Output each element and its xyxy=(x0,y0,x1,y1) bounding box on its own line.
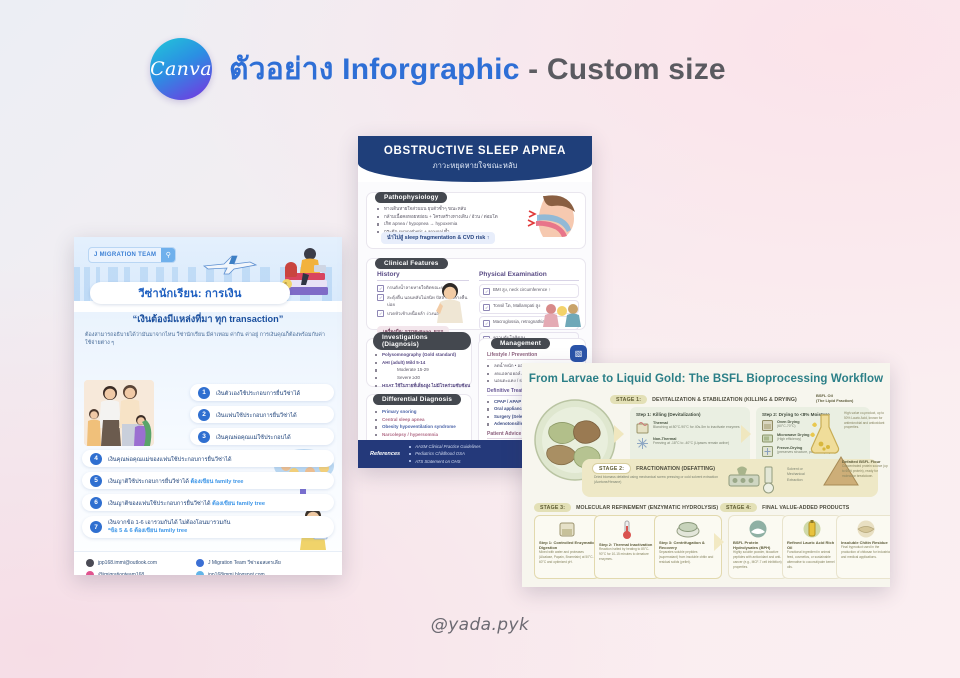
exam-label: BMI สูง, neck circumference ↑ xyxy=(493,287,551,294)
bsfl-stage2-label: Solvent or Mechanical Extraction xyxy=(787,467,821,483)
migration-brand-label: J MIGRATION TEAM xyxy=(94,252,156,258)
management-group-title: Lifestyle / Prevention xyxy=(487,352,579,360)
osa-clinical-heading: Clinical Features xyxy=(375,258,448,269)
check-icon: ✓ xyxy=(377,285,384,292)
exam-label: Tonsil โต, Mallampati สูง xyxy=(493,303,540,310)
check-icon: ✓ xyxy=(377,310,384,317)
step-text: Reaction halted by heating to 85°C-90°C … xyxy=(599,547,655,561)
list-item: Moderate 15-29 xyxy=(375,366,471,374)
search-icon: ⚲ xyxy=(161,248,175,262)
bsfl-title: From Larvae to Liquid Gold: The BSFL Bio… xyxy=(522,363,890,385)
list-item-accent: ต้องเขียน family tree xyxy=(212,501,265,507)
bsfl-stage3-header: STAGE 3: MOLECULAR REFINEMENT (ENZYMATIC… xyxy=(534,503,718,512)
list-item-text: เงินจากข้อ 1-6 เอารวมกันได้ ไม่ต้องโอนมา… xyxy=(108,519,230,527)
list-item[interactable]: 6 เงินญาติของแฟนใช้ประกอบการยื่นวีซ่าได้… xyxy=(82,494,334,511)
list-item-number: 7 xyxy=(90,521,102,533)
list-item-accent: ต้องเขียน family tree xyxy=(190,479,243,485)
bsfl-step1-txt: Blanching at 80°C-90°C for 40s-5m to ina… xyxy=(653,425,740,430)
contact-instagram[interactable]: @jmigrationteam168 xyxy=(86,571,144,575)
flask-icon xyxy=(808,413,842,455)
bsfl-stage3-step2: Step 2: Thermal Inactivation Reaction ha… xyxy=(594,515,660,579)
product-text: Highly soluble powder, bioactive peptide… xyxy=(733,550,783,569)
check-icon: ✓ xyxy=(483,288,490,295)
migration-contact-footer: jpp168.immi@outlook.com @jmigrationteam1… xyxy=(74,551,342,575)
list-item: Polysomnography (Gold standard) xyxy=(375,351,471,359)
exam-label: Macroglossia, retrognathia xyxy=(493,319,545,326)
bsfl-stage2-name: FRACTIONATION (DEFATTING) xyxy=(636,466,715,472)
screw-press-illustration xyxy=(727,463,785,495)
page-title-dash: - xyxy=(528,53,538,86)
list-item: ทางเดินหายใจส่วนบน ยุบตัวซ้ำๆ ขณะหลับ xyxy=(377,205,527,213)
bsfl-oil-text: High-value co-product, up to 50% Lauric … xyxy=(844,411,888,430)
protein-powder-icon xyxy=(747,520,769,538)
bsfl-step1-box: Step 1: Killing (Devitalization) Thermal… xyxy=(630,407,750,467)
list-item[interactable]: 1 เงินตัวเองใช้ประกอบการยื่นวีซ่าได้ xyxy=(190,384,334,401)
list-item-number: 2 xyxy=(198,409,210,421)
list-item: AASM Clinical Practice Guidelines xyxy=(409,443,480,450)
osa-title-th: ภาวะหยุดหายใจขณะหลับ xyxy=(358,160,592,172)
osa-investigations-heading: Investigations (Diagnosis) xyxy=(373,332,471,350)
infographic-card-bsfl[interactable]: From Larvae to Liquid Gold: The BSFL Bio… xyxy=(522,363,890,587)
oil-bottle-icon xyxy=(801,520,823,538)
page-title-custom: Custom size xyxy=(547,53,726,86)
airway-anatomy-illustration xyxy=(527,195,581,239)
doctor-patient-illustration xyxy=(539,301,583,327)
osa-history-title: History xyxy=(377,271,469,281)
bsfl-stage4-name: FINAL VALUE-ADDED PRODUCTS xyxy=(762,505,849,511)
contact-blog[interactable]: jpp168immi.blogspot.com xyxy=(196,571,265,575)
contact-blog-label: jpp168immi.blogspot.com xyxy=(208,572,265,575)
bsfl-oil-product: BSFL Oil (The Lipid Fraction) xyxy=(792,393,887,403)
bsfl-stage3-step3: Step 3: Centrifugation & Recovery Separa… xyxy=(654,515,722,579)
list-item: Narcolepsy / hypersomnia xyxy=(375,431,471,439)
instagram-icon xyxy=(86,571,94,575)
migration-title: วีซ่านักเรียน: การเงิน xyxy=(138,284,241,302)
list-item-label: เงินตัวเองใช้ประกอบการยื่นวีซ่าได้ xyxy=(216,388,300,398)
bsfl-stage1-header: STAGE 1: DEVITALIZATION & STABILIZATION … xyxy=(610,395,797,404)
facebook-icon xyxy=(196,559,204,567)
contact-facebook-label: J Migration Team วีซ่าออสเตรเลีย xyxy=(208,559,281,567)
check-icon: ✓ xyxy=(483,320,490,327)
page-title-thai: ตัวอย่าง xyxy=(229,53,334,86)
list-item-text: เงินญาติของแฟนใช้ประกอบการยื่นวีซ่าได้ xyxy=(108,501,212,507)
osa-section-clinical: Clinical Features History ✓กรนดังน้ำลายห… xyxy=(366,258,586,330)
watermark: @yada.pyk xyxy=(0,615,960,635)
migration-card-body: “เงินต้องมีแหล่งที่มา ทุก transaction” ต… xyxy=(74,312,342,575)
list-item: AHI (adult) Mild 5-14 xyxy=(375,359,471,367)
list-item-label: เงินญาติใช้ประกอบการยื่นวีซ่าได้ ต้องเขี… xyxy=(108,476,243,486)
migration-subtitle: ต้องสามารถอธิบายได้ว่ามันมาจากไหน วีซ่าน… xyxy=(85,331,331,347)
step-text: Mixed with water and proteases (Alcalase… xyxy=(539,550,595,564)
osa-management-heading: Management xyxy=(491,338,550,349)
bsfl-product-bph: BSFL Protein Hydrolysates (BPH) Highly s… xyxy=(728,515,788,579)
step-title: Step 1: Controlled Enzymatic Digestion xyxy=(539,540,595,550)
list-item[interactable]: 4 เงินคุณพ่อคุณแม่ของแฟนใช้ประกอบการยื่น… xyxy=(82,450,334,467)
canva-logo-text: Canva xyxy=(150,58,212,80)
bsfl-oil-subtitle: (The Lipid Fraction) xyxy=(816,398,887,403)
page-title-en: Inforgraphic xyxy=(342,53,519,86)
list-item: กล้ามเนื้อคอหอยหย่อน + โครงสร้างทางเดิน … xyxy=(377,213,527,221)
osa-pe-title: Physical Examination xyxy=(479,271,579,281)
osa-differential-heading: Differential Diagnosis xyxy=(373,394,461,405)
osa-investigations-list: Polysomnography (Gold standard) AHI (adu… xyxy=(375,351,471,390)
bsfl-stage3-name: MOLECULAR REFINEMENT (ENZYMATIC HYDROLYS… xyxy=(576,505,718,511)
list-item: ATS Statement on OHS xyxy=(409,458,480,465)
migration-points-list: 1 เงินตัวเองใช้ประกอบการยื่นวีซ่าได้ 2 เ… xyxy=(82,384,334,543)
exam-item: ✓BMI สูง, neck circumference ↑ xyxy=(479,284,579,298)
bsfl-stage4-header: STAGE 4: FINAL VALUE-ADDED PRODUCTS xyxy=(720,503,849,512)
check-icon: ✓ xyxy=(483,304,490,311)
bsfl-product-lauric-oil: Refined Lauric Acid Rich Oil Functional … xyxy=(782,515,842,579)
osa-card-header: OBSTRUCTIVE SLEEP APNEA ภาวะหยุดหายใจขณะ… xyxy=(358,136,592,182)
list-item-label: เงินญาติของแฟนใช้ประกอบการยื่นวีซ่าได้ ต… xyxy=(108,498,265,508)
bsfl-stage2-text: Dried biomass defatted using mechanical … xyxy=(594,475,724,485)
list-item-label: เงินจากข้อ 1-6 เอารวมกันได้ ไม่ต้องโอนมา… xyxy=(108,519,230,536)
list-item-note: *ข้อ 5 & 6 ต้องเขียน family tree xyxy=(108,527,230,535)
cpap-machine-icon: ▧ xyxy=(570,345,587,362)
list-item-number: 4 xyxy=(90,453,102,465)
page-title: ตัวอย่าง Inforgraphic - Custom size xyxy=(229,46,726,93)
list-item: Severe ≥30 xyxy=(375,374,471,382)
bsfl-stage2-header: STAGE 2: FRACTIONATION (DEFATTING) xyxy=(592,463,715,474)
bsfl-step1-item: Thermal Blanching at 80°C-90°C for 40s-5… xyxy=(636,421,744,434)
bsfl-stage2-tag: STAGE 2: xyxy=(592,463,631,474)
step-text: Separates soluble peptides (supernatant)… xyxy=(659,550,717,564)
thermometer-icon xyxy=(621,520,633,540)
bsfl-flour-product: Defatted BSFL Flour Concentrated protein… xyxy=(842,459,888,479)
flow-arrow-icon xyxy=(741,425,751,443)
bsfl-step2-txt: (High efficiency) xyxy=(777,437,810,442)
list-item-label: เงินคุณพ่อคุณแม่ใช้ประกอบได้ xyxy=(216,432,291,442)
page-header: Canva ตัวอย่าง Inforgraphic - Custom siz… xyxy=(150,38,726,100)
contact-facebook[interactable]: J Migration Team วีซ่าออสเตรเลีย xyxy=(196,559,281,567)
list-item: Primary snoring xyxy=(375,408,471,416)
bsfl-step1-title: Step 1: Killing (Devitalization) xyxy=(636,412,744,417)
email-icon xyxy=(86,559,94,567)
list-item: Obesity hypoventilation syndrome xyxy=(375,423,471,431)
bsfl-step1-txt: Freezing at -18°C to -40°C (Lipases rema… xyxy=(653,441,729,446)
flow-arrow-icon xyxy=(614,425,624,443)
check-icon: ✓ xyxy=(377,294,384,301)
bsfl-product-chitin: Insoluble Chitin Residue Final byproduct… xyxy=(836,515,890,579)
list-item[interactable]: 3 เงินคุณพ่อคุณแม่ใช้ประกอบได้ xyxy=(190,428,334,445)
osa-title-en: OBSTRUCTIVE SLEEP APNEA xyxy=(358,145,592,157)
list-item-label: เงินคุณพ่อคุณแม่ของแฟนใช้ประกอบการยื่นวี… xyxy=(108,454,232,464)
list-item-number: 1 xyxy=(198,387,210,399)
chitin-bowl-icon xyxy=(855,520,877,538)
microwave-icon xyxy=(762,433,773,444)
bsfl-stage3-tag: STAGE 3: xyxy=(534,503,571,512)
flow-arrow-icon xyxy=(714,533,724,551)
list-item-label: เงินแฟนใช้ประกอบการยื่นวีซ่าได้ xyxy=(216,410,297,420)
osa-section-investigations: Investigations (Diagnosis) Polysomnograp… xyxy=(366,338,472,387)
freeze-dryer-icon xyxy=(762,446,773,457)
bsfl-flour-text: Concentrated protein source (up to 60% p… xyxy=(842,464,888,478)
bsfl-stage1-tag: STAGE 1: xyxy=(610,395,647,404)
osa-patho-heading: Pathophysiology xyxy=(375,192,447,203)
snowflake-icon xyxy=(636,437,649,450)
product-title: Refined Lauric Acid Rich Oil xyxy=(787,540,837,550)
bsfl-stage3-step1: Step 1: Controlled Enzymatic Digestion M… xyxy=(534,515,600,579)
contact-email[interactable]: jpp168.immi@outlook.com xyxy=(86,559,157,567)
bioreactor-icon xyxy=(556,520,578,538)
list-item-number: 6 xyxy=(90,497,102,509)
tired-person-illustration xyxy=(433,281,467,323)
list-item-number: 5 xyxy=(90,475,102,487)
osa-section-pathophysiology: Pathophysiology ทางเดินหายใจส่วนบน ยุบตั… xyxy=(366,192,586,249)
migration-card-header: J MIGRATION TEAM ⚲ $ วีซ่านักเรียน: การเ… xyxy=(74,237,342,301)
migration-quote: “เงินต้องมีแหล่งที่มา ทุก transaction” xyxy=(84,312,332,327)
list-item[interactable]: 2 เงินแฟนใช้ประกอบการยื่นวีซ่าได้ xyxy=(190,406,334,423)
bsfl-stage4-tag: STAGE 4: xyxy=(720,503,757,512)
step-title: Step 3: Centrifugation & Recovery xyxy=(659,540,717,550)
bsfl-step2-txt: (60°C-70°C) xyxy=(777,424,800,429)
list-item: Central sleep apnea xyxy=(375,416,471,424)
list-item[interactable]: 5 เงินญาติใช้ประกอบการยื่นวีซ่าได้ ต้องเ… xyxy=(82,472,334,489)
thermal-icon xyxy=(636,421,649,434)
product-text: Final byproduct used in the production o… xyxy=(841,545,890,559)
list-item[interactable]: 7 เงินจากข้อ 1-6 เอารวมกันได้ ไม่ต้องโอน… xyxy=(82,516,334,538)
osa-references-list: AASM Clinical Practice Guidelines Pediat… xyxy=(409,443,480,465)
oven-icon xyxy=(762,420,773,431)
blog-icon xyxy=(196,571,204,575)
canva-logo: Canva xyxy=(150,38,212,100)
contact-email-label: jpp168.immi@outlook.com xyxy=(98,560,157,566)
airplane-icon xyxy=(202,253,258,275)
migration-brand-chip: J MIGRATION TEAM ⚲ xyxy=(88,247,176,263)
osa-patho-highlight: นำไปสู่ sleep fragmentation & CVD risk ↑ xyxy=(381,232,495,244)
list-item: Pediatrics Childhood OSA xyxy=(409,450,480,457)
infographic-card-migration[interactable]: J MIGRATION TEAM ⚲ $ วีซ่านักเรียน: การเ… xyxy=(74,237,342,575)
bsfl-stage2-label-text: Solvent or Mechanical Extraction xyxy=(787,467,821,483)
bsfl-oil-desc: High-value co-product, up to 50% Lauric … xyxy=(844,411,888,430)
list-item-text: เงินญาติใช้ประกอบการยื่นวีซ่าได้ xyxy=(108,479,190,485)
centrifuge-icon xyxy=(676,520,700,538)
osa-references-label: References xyxy=(370,451,400,457)
list-item-number: 3 xyxy=(198,431,210,443)
product-title: BSFL Protein Hydrolysates (BPH) xyxy=(733,540,783,550)
bsfl-step1-item: Non-Thermal Freezing at -18°C to -40°C (… xyxy=(636,437,744,450)
product-text: Functional ingredient in animal feed, co… xyxy=(787,550,837,569)
migration-title-bar: วีซ่านักเรียน: การเงิน xyxy=(90,282,290,304)
bsfl-stage1-name: DEVITALIZATION & STABILIZATION (KILLING … xyxy=(652,397,797,403)
contact-instagram-label: @jmigrationteam168 xyxy=(98,572,144,575)
